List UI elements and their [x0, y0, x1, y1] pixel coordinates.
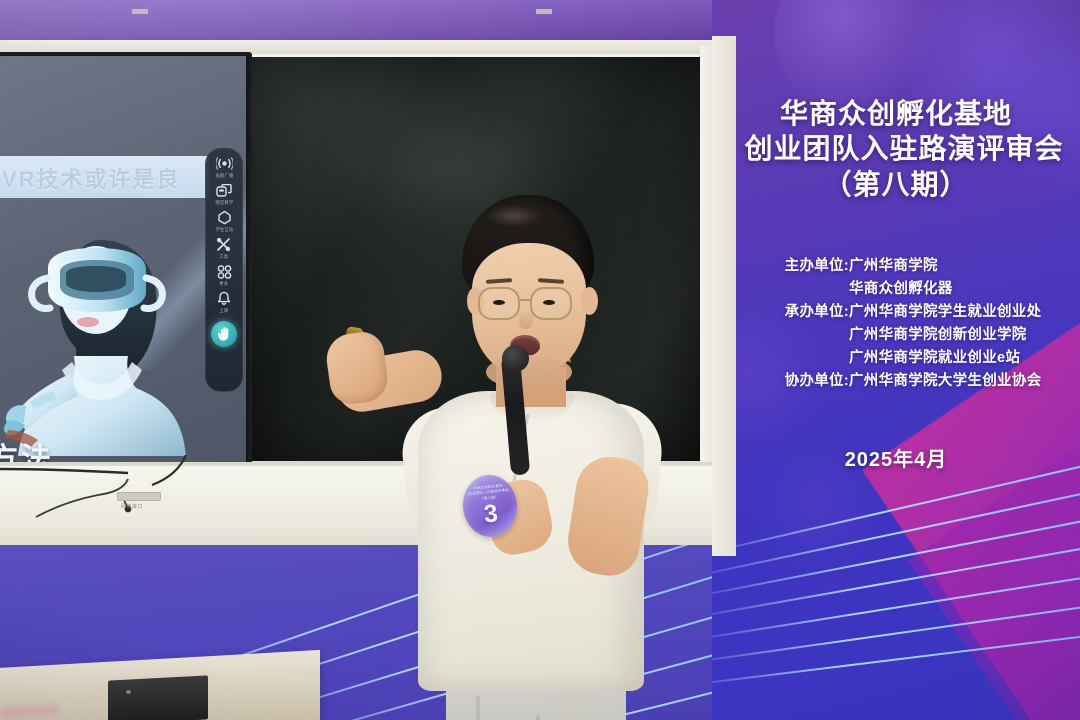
toolbar-label: 学生互动: [215, 227, 233, 233]
organizer-label: 协办单位:: [765, 370, 849, 393]
trim-notch: [536, 9, 552, 14]
banner-title-line-3: （第八期）: [712, 167, 1080, 202]
microphone-head-icon: [502, 345, 529, 372]
banner-organizers: 主办单位: 广州华商学院 华商众创孵化器 承办单位: 广州华商学院学生就业创业处…: [712, 255, 1080, 392]
hair-highlight: [486, 205, 542, 227]
presenter-eye: [493, 300, 505, 305]
organizer-row: 协办单位: 广州华商学院大学生创业协会: [712, 370, 1080, 393]
toolbar-label: 更多: [220, 281, 229, 287]
projector-control-box[interactable]: [108, 675, 208, 720]
trim-notch: [132, 9, 148, 14]
toolbar-label: 随堂教学: [215, 200, 233, 206]
photo-scene: VR技术或许是良 方法 画面广播: [0, 0, 1080, 720]
badge-number: 3: [483, 501, 499, 527]
organizer-value: 广州华商学院学生就业创业处: [849, 301, 1027, 324]
banner-date: 2025年4月: [712, 443, 1080, 472]
organizer-row: 主办单位: 广州华商学院: [712, 255, 1080, 278]
organizer-value: 华商众创孵化器: [849, 278, 1027, 301]
organizer-value: 广州华商学院大学生创业协会: [849, 370, 1027, 393]
toolbar-item-broadcast[interactable]: 画面广播: [206, 155, 242, 179]
slide-title: VR技术或许是良: [2, 162, 232, 194]
interaction-icon: [214, 209, 234, 226]
organizer-row: 承办单位: 广州华商学院学生就业创业处: [712, 301, 1080, 324]
toolbar-item-tools[interactable]: 工具: [206, 236, 242, 260]
event-banner: 华商众创孵化基地 创业团队入驻路演评审会 （第八期） 主办单位: 广州华商学院 …: [712, 0, 1080, 720]
organizer-label: [765, 324, 849, 347]
tools-icon: [214, 236, 234, 253]
socket-label: 网络接口: [121, 503, 143, 510]
slide-vr-photo: [4, 206, 194, 456]
device-led-icon: [126, 690, 131, 694]
banner-title-line-1: 华商众创孵化基地: [712, 96, 1080, 131]
organizer-label: 承办单位:: [765, 301, 849, 324]
toolbar-label: 上课: [220, 308, 229, 314]
apps-icon: [214, 263, 234, 280]
organizer-value: 广州华商学院: [849, 255, 1027, 278]
toolbar-label: 画面广播: [215, 173, 233, 179]
banner-title-line-2: 创业团队入驻路演评审会: [728, 131, 1080, 166]
presenter-left-hand: [323, 329, 390, 406]
toolbar-item-interaction[interactable]: 学生互动: [206, 209, 242, 233]
screen-toolbar[interactable]: 画面广播 随堂教学 学生互动: [205, 148, 243, 392]
organizer-label: 主办单位:: [765, 255, 849, 278]
broadcast-icon: [214, 155, 234, 172]
organizer-row: 华商众创孵化器: [712, 278, 1080, 301]
organizer-row: 广州华商学院就业创业e站: [712, 347, 1080, 370]
hand-icon[interactable]: [211, 321, 237, 347]
whiteboard-icon: [214, 182, 234, 199]
wall-socket[interactable]: [117, 492, 161, 501]
organizer-value: 广州华商学院就业创业e站: [849, 347, 1027, 370]
organizer-label: [765, 278, 849, 301]
presenter-chin: [486, 355, 572, 389]
toolbar-item-apps[interactable]: 更多: [206, 263, 242, 287]
organizer-value: 广州华商学院创新创业学院: [849, 324, 1027, 347]
glasses-bridge: [520, 299, 530, 301]
toolbar-label: 工具: [220, 254, 229, 260]
bell-icon: [214, 290, 234, 307]
presenter-ear: [581, 287, 598, 315]
banner-title: 华商众创孵化基地 创业团队入驻路演评审会 （第八期）: [712, 96, 1080, 202]
presenter-nose: [519, 309, 533, 329]
toolbar-item-bell[interactable]: 上课: [206, 290, 242, 314]
presenter: 华商众创孵化基地 创业团队入驻路演评审会 （第八期） 3: [300, 195, 720, 720]
presenter-eye: [543, 300, 555, 305]
toolbar-item-whiteboard[interactable]: 随堂教学: [206, 182, 242, 206]
organizer-label: [765, 347, 849, 370]
organizer-row: 广州华商学院创新创业学院: [712, 324, 1080, 347]
